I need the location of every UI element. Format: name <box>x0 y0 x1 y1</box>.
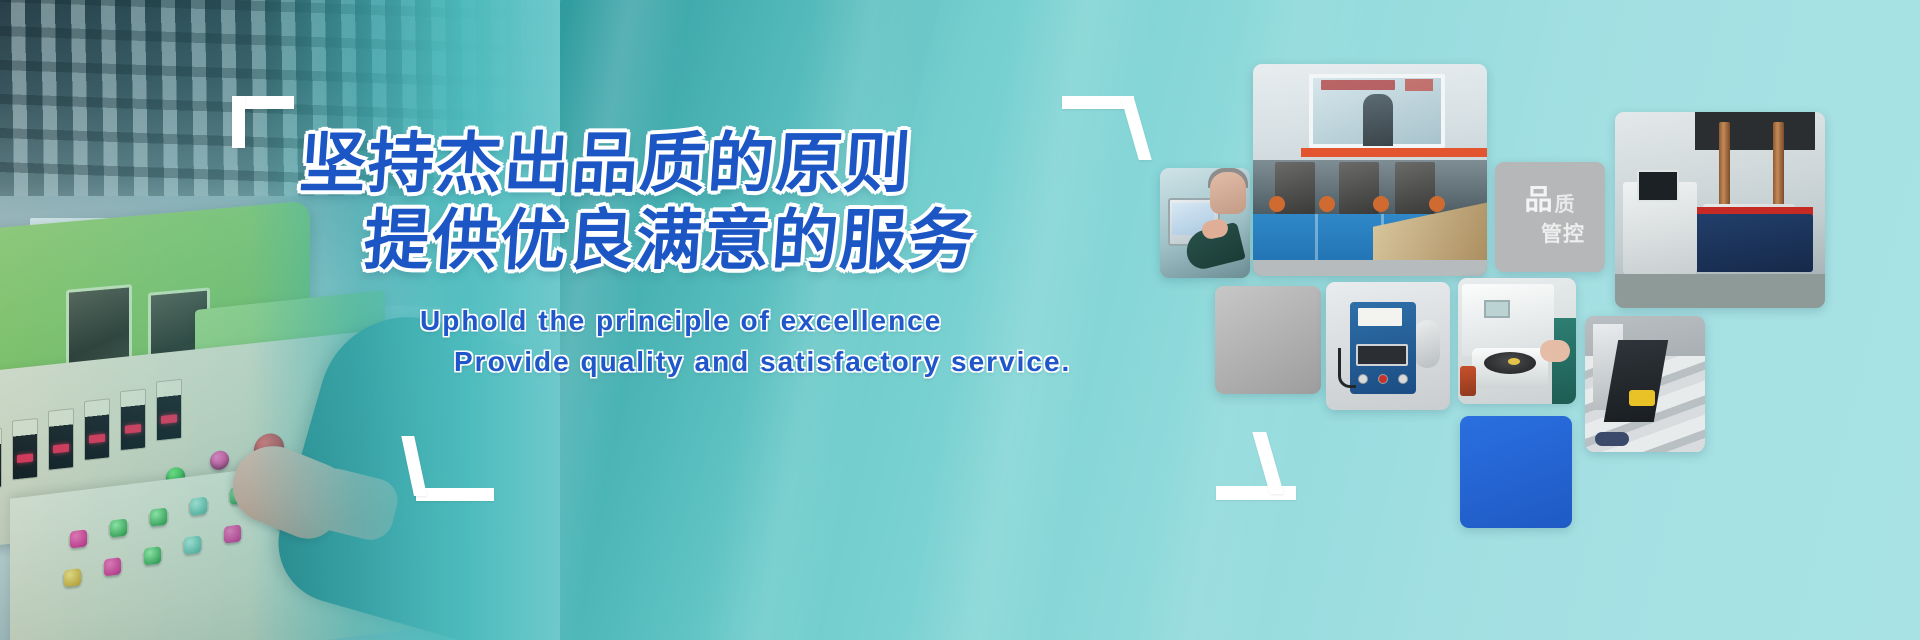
production-line-photo <box>1253 64 1487 276</box>
subheadline-english-block: Uphold the principle of excellence Provi… <box>420 301 1000 382</box>
portable-tester-photo <box>1326 282 1450 410</box>
grey-placeholder-block <box>1215 286 1321 394</box>
blue-placeholder-block <box>1460 416 1572 528</box>
quality-control-label: 品 质 管控 <box>1495 162 1605 272</box>
headline-chinese-line-1: 坚持杰出品质的原则 <box>297 126 1002 203</box>
quality-control-photo-collage: 品 质 管控 <box>1150 50 1910 610</box>
bracket-arm-vertical <box>232 96 245 148</box>
steel-tube-inspection-photo <box>1585 316 1705 452</box>
bracket-arm-horizontal <box>416 488 494 501</box>
qc-char-pin: 品 <box>1524 186 1553 214</box>
operator-tablet-photo <box>1160 168 1250 278</box>
promotional-banner: 坚持杰出品质的原则 提供优良满意的服务 Uphold the principle… <box>0 0 1920 640</box>
subheadline-english-line-2: Provide quality and satisfactory service… <box>454 342 1000 383</box>
quality-control-card: 品 质 管控 <box>1495 162 1605 272</box>
lab-centrifuge-photo <box>1458 278 1576 404</box>
banner-copy-block: 坚持杰出品质的原则 提供优良满意的服务 Uphold the principle… <box>300 126 1000 382</box>
qc-text-guankong: 管控 <box>1541 218 1585 248</box>
qc-char-zhi: 质 <box>1555 194 1576 214</box>
subheadline-english-line-1: Uphold the principle of excellence <box>420 301 1000 342</box>
universal-testing-machine-photo <box>1615 112 1825 308</box>
headline-chinese-line-2: 提供优良满意的服务 <box>361 203 1002 280</box>
